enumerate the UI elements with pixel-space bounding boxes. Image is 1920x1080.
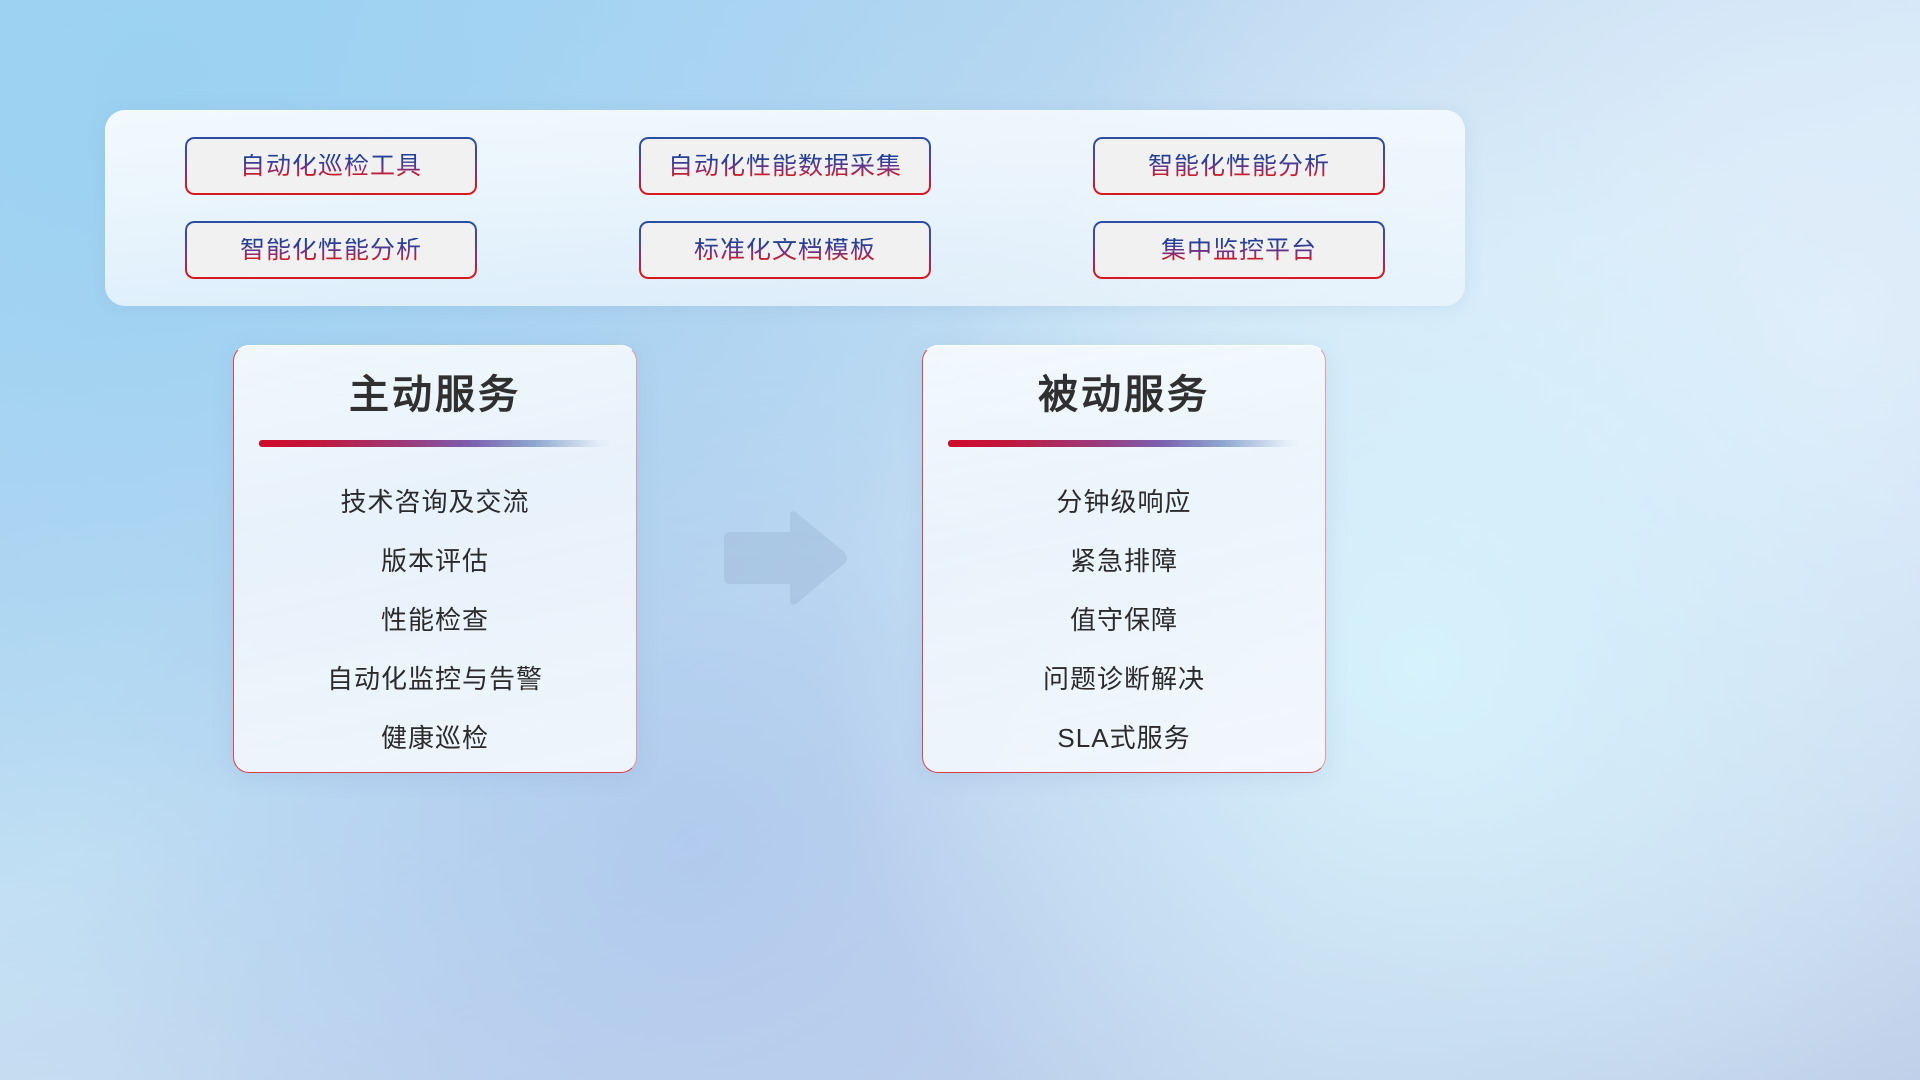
list-item[interactable]: 分钟级响应 <box>1056 473 1191 532</box>
list-item[interactable]: 技术咨询及交流 <box>340 473 529 532</box>
card-divider <box>259 440 611 447</box>
arrow-right-icon <box>718 508 850 608</box>
capability-pill-label: 智能化性能分析 <box>240 238 422 263</box>
capability-row-1: 自动化巡检工具 自动化性能数据采集 智能化性能分析 <box>185 137 1385 195</box>
card-divider <box>948 440 1300 447</box>
capability-pill-label: 标准化文档模板 <box>694 238 876 263</box>
capability-pill-label: 自动化巡检工具 <box>240 154 422 179</box>
capability-pill-label: 智能化性能分析 <box>1148 154 1330 179</box>
capability-panel: 自动化巡检工具 自动化性能数据采集 智能化性能分析 智能化性能分析 标准化文档模… <box>105 110 1465 306</box>
card-title-active: 主动服务 <box>349 370 521 420</box>
list-item[interactable]: 问题诊断解决 <box>1043 650 1205 709</box>
service-list-passive: 分钟级响应 紧急排障 值守保障 问题诊断解决 SLA式服务 <box>923 473 1325 768</box>
list-item[interactable]: SLA式服务 <box>1057 709 1190 768</box>
capability-pill-label: 集中监控平台 <box>1161 238 1317 263</box>
card-title-passive: 被动服务 <box>1038 370 1210 420</box>
list-item[interactable]: 值守保障 <box>1070 591 1178 650</box>
capability-row-2: 智能化性能分析 标准化文档模板 集中监控平台 <box>185 221 1385 279</box>
service-card-active[interactable]: 主动服务 技术咨询及交流 版本评估 性能检查 自动化监控与告警 健康巡检 <box>233 345 637 773</box>
list-item[interactable]: 健康巡检 <box>381 709 489 768</box>
list-item[interactable]: 紧急排障 <box>1070 532 1178 591</box>
service-card-passive[interactable]: 被动服务 分钟级响应 紧急排障 值守保障 问题诊断解决 SLA式服务 <box>922 345 1326 773</box>
list-item[interactable]: 性能检查 <box>381 591 489 650</box>
capability-pill-automated-inspection-tool[interactable]: 自动化巡检工具 <box>185 137 477 195</box>
capability-pill-centralized-monitoring-platform[interactable]: 集中监控平台 <box>1093 221 1385 279</box>
service-list-active: 技术咨询及交流 版本评估 性能检查 自动化监控与告警 健康巡检 <box>234 473 636 768</box>
list-item[interactable]: 版本评估 <box>381 532 489 591</box>
list-item[interactable]: 自动化监控与告警 <box>327 650 543 709</box>
capability-pill-intelligent-performance-analysis-1[interactable]: 智能化性能分析 <box>1093 137 1385 195</box>
capability-pill-automated-performance-data-collection[interactable]: 自动化性能数据采集 <box>639 137 931 195</box>
capability-pill-label: 自动化性能数据采集 <box>668 154 902 179</box>
capability-pill-standardized-document-template[interactable]: 标准化文档模板 <box>639 221 931 279</box>
diagram-canvas: 自动化巡检工具 自动化性能数据采集 智能化性能分析 智能化性能分析 标准化文档模… <box>0 0 1920 1080</box>
capability-pill-intelligent-performance-analysis-2[interactable]: 智能化性能分析 <box>185 221 477 279</box>
